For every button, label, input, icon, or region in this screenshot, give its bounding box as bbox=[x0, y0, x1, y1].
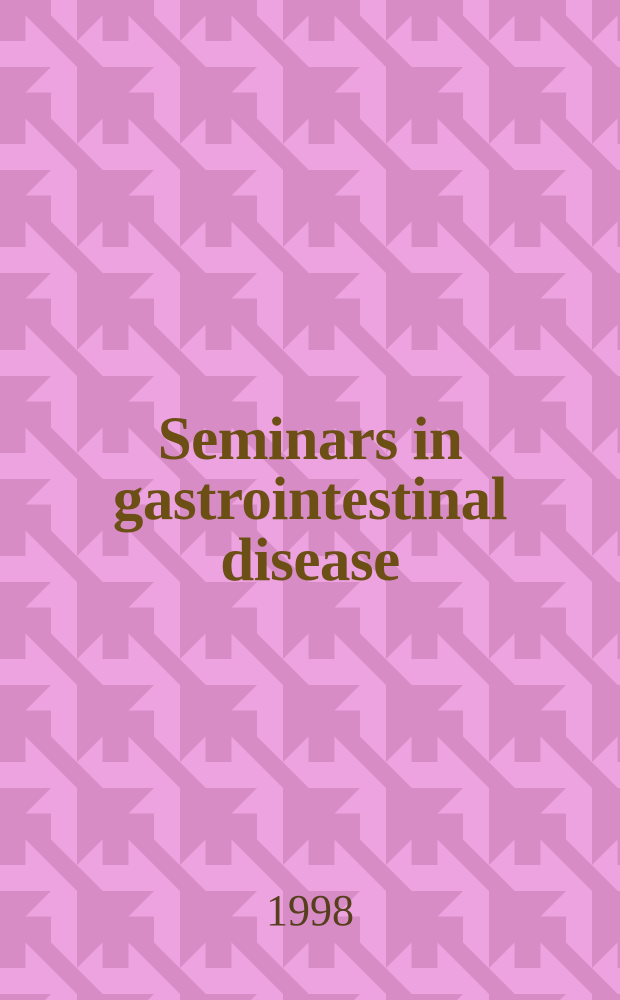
cover-title: Seminars in gastrointestinal disease bbox=[0, 410, 620, 591]
title-line-2: gastrointestinal bbox=[10, 470, 610, 530]
cover-year: 1998 bbox=[0, 885, 620, 936]
journal-cover: Seminars in gastrointestinal disease 199… bbox=[0, 0, 620, 1000]
title-line-1: Seminars in bbox=[10, 410, 610, 470]
title-line-3: disease bbox=[10, 531, 610, 591]
